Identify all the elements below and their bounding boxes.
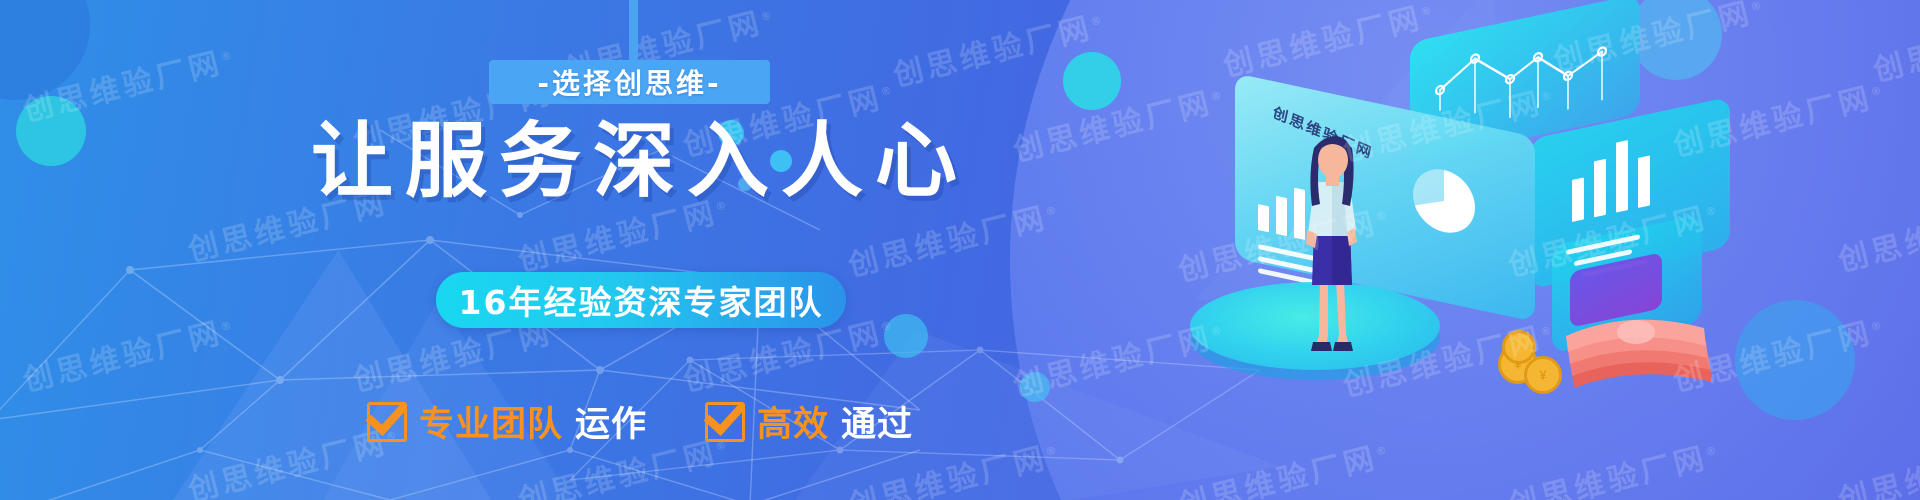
decorative-circle: [0, 0, 90, 100]
coin-symbol: ¥: [1539, 368, 1546, 383]
feature-highlight-text: 专业团队: [419, 396, 563, 447]
feature-rest-text: 通过: [841, 396, 913, 447]
feature-list: 专业团队运作高效通过: [0, 396, 1280, 447]
feature-item: 高效通过: [705, 396, 913, 447]
feature-item: 专业团队运作: [367, 396, 647, 447]
subheadline-label: 16年经验资深专家团队: [459, 276, 824, 324]
feature-highlight-text: 高效: [757, 396, 829, 447]
subheadline-pill: 16年经验资深专家团队: [436, 272, 846, 328]
hero-illustration: 创思维验厂网: [1180, 0, 1920, 500]
promo-banner: 创思维验厂网: [0, 0, 1920, 500]
headline: 让服务深入人心: [0, 118, 1280, 207]
eyebrow-badge-label: -选择创思维-: [537, 62, 721, 102]
checkbox-checked-icon: [705, 402, 745, 442]
decorative-circle: [1063, 52, 1121, 110]
eyebrow-badge: -选择创思维-: [489, 60, 770, 104]
decorative-circle: [884, 314, 928, 358]
cash-stack-icon: [1550, 270, 1740, 400]
badge-hanger-line: [629, 0, 638, 62]
businesswoman-figure: [1286, 130, 1376, 360]
feature-rest-text: 运作: [575, 396, 647, 447]
headline-text: 让服务深入人心: [311, 118, 969, 207]
checkbox-checked-icon: [367, 402, 407, 442]
